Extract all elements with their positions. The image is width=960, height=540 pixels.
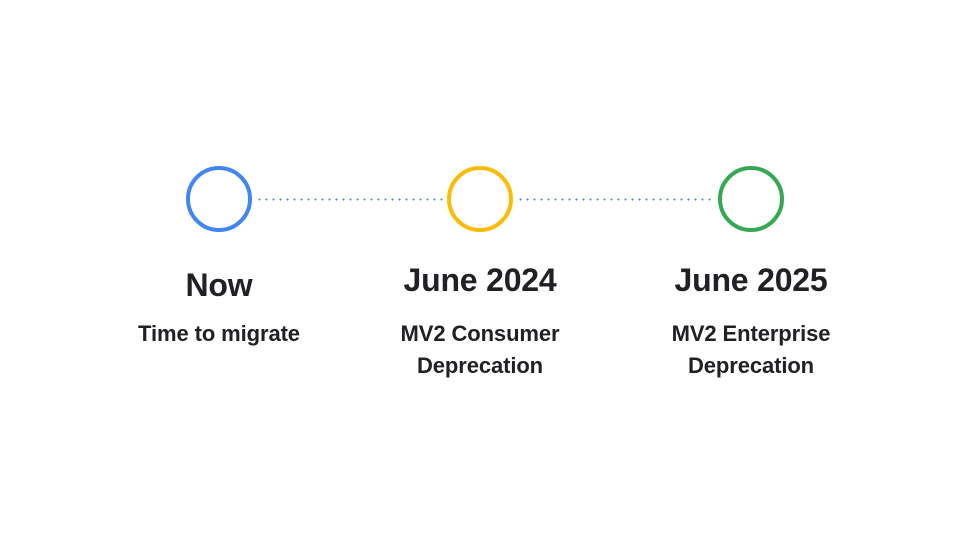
timeline-connector-now-to-june-2024 bbox=[256, 198, 444, 201]
blue-circle-marker-icon bbox=[186, 166, 252, 232]
marker-slot-june-2025 bbox=[718, 166, 784, 232]
milestone-subtext-now: Time to migrate bbox=[69, 318, 369, 350]
milestone-subtext-line: MV2 Enterprise bbox=[601, 318, 901, 350]
milestone-subtext-line: Time to migrate bbox=[69, 318, 369, 350]
marker-slot-now bbox=[186, 166, 252, 232]
timeline-diagram: Now Time to migrate June 2024 MV2 Consum… bbox=[0, 0, 960, 540]
milestone-heading-june-2025: June 2025 bbox=[601, 261, 901, 299]
milestone-subtext-june-2024: MV2 Consumer Deprecation bbox=[330, 318, 630, 382]
milestone-heading-now: Now bbox=[69, 266, 369, 304]
green-circle-marker-icon bbox=[718, 166, 784, 232]
milestone-subtext-line: Deprecation bbox=[601, 350, 901, 382]
milestone-heading-june-2024: June 2024 bbox=[330, 261, 630, 299]
milestone-subtext-line: MV2 Consumer bbox=[330, 318, 630, 350]
marker-slot-june-2024 bbox=[447, 166, 513, 232]
yellow-circle-marker-icon bbox=[447, 166, 513, 232]
milestone-subtext-line: Deprecation bbox=[330, 350, 630, 382]
milestone-subtext-june-2025: MV2 Enterprise Deprecation bbox=[601, 318, 901, 382]
timeline-connector-june-2024-to-june-2025 bbox=[517, 198, 715, 201]
